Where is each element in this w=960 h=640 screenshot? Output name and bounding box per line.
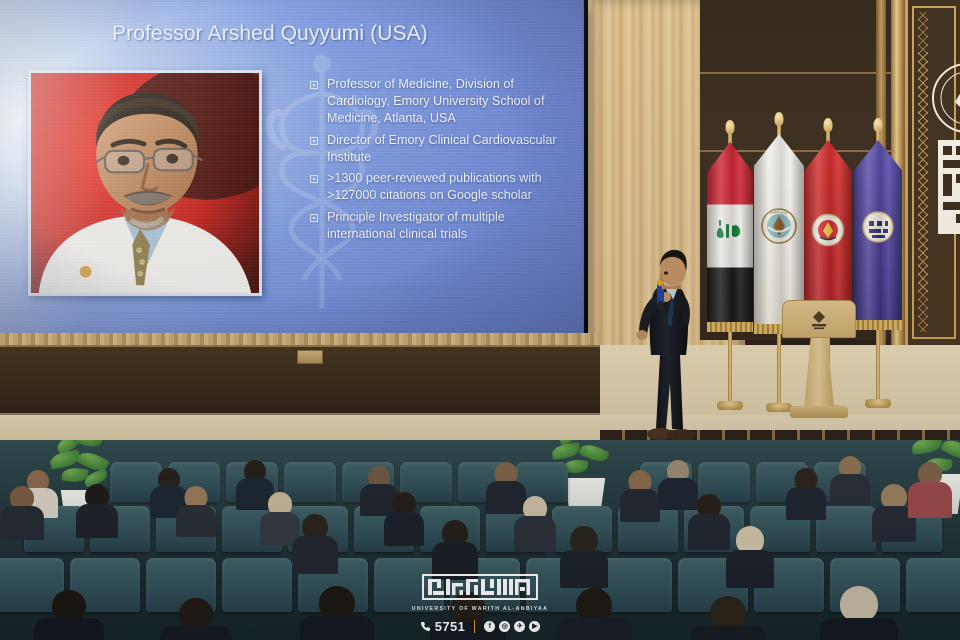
flag-cloth — [854, 140, 902, 330]
audience-member — [292, 514, 338, 570]
bullet-square-icon — [310, 214, 318, 222]
list-item: >1300 peer-reviewed publications with >1… — [310, 170, 572, 204]
cloth-shading — [707, 142, 753, 332]
bullet-text: Principle Investigator of multiple inter… — [327, 209, 572, 243]
under-screen-wood-trim — [0, 333, 600, 347]
list-item: Director of Emory Clinical Cardiovascula… — [310, 132, 572, 166]
audience-member — [432, 520, 478, 576]
presenter — [636, 243, 706, 451]
audience-member — [430, 592, 506, 640]
audience-member — [0, 486, 44, 536]
flag-finial-icon — [775, 112, 784, 126]
bullet-square-icon — [310, 81, 318, 89]
bullet-text: >1300 peer-reviewed publications with >1… — [327, 170, 572, 204]
bullet-text: Director of Emory Clinical Cardiovascula… — [327, 132, 572, 166]
flag-fringe — [707, 322, 753, 332]
flag-finial-icon — [824, 118, 833, 132]
flag-fringe — [854, 320, 902, 330]
speaker-portrait-photo — [28, 70, 262, 296]
audience-member — [786, 468, 826, 516]
flag-stand-base — [865, 399, 891, 408]
decorative-wall-panel — [905, 0, 960, 345]
presentation-slide: Professor Arshed Quyyumi (USA) — [0, 0, 584, 333]
list-item: Principle Investigator of multiple inter… — [310, 209, 572, 243]
lectern-emblem-icon — [807, 309, 831, 333]
audience-member — [908, 462, 952, 514]
flag-stand-base — [717, 401, 743, 410]
list-item: Professor of Medicine, Division of Cardi… — [310, 76, 572, 127]
seat — [906, 558, 960, 612]
lectern-base — [790, 406, 848, 418]
cloth-shading — [854, 140, 902, 330]
slide-bullet-list: Professor of Medicine, Division of Cardi… — [310, 76, 572, 248]
seat — [222, 558, 292, 612]
projection-screen: Professor Arshed Quyyumi (USA) — [0, 0, 588, 336]
audience-member — [830, 456, 870, 502]
zigzag-ornament-icon — [918, 12, 928, 332]
audience-member — [726, 526, 774, 584]
audience-member — [384, 492, 424, 542]
flag-cloth — [707, 142, 753, 332]
bullet-square-icon — [310, 137, 318, 145]
bullet-text: Professor of Medicine, Division of Cardi… — [327, 76, 572, 127]
audience-area — [0, 440, 960, 640]
audience-member — [560, 526, 608, 584]
audience-member — [76, 484, 118, 534]
slide-title: Professor Arshed Quyyumi (USA) — [112, 22, 428, 46]
flag-finial-icon — [726, 120, 735, 134]
audience-member — [176, 486, 216, 534]
audience-member — [688, 494, 730, 546]
audience-member — [34, 590, 104, 640]
flag-finial-icon — [874, 118, 883, 132]
lectern-stem — [804, 338, 834, 408]
bullet-square-icon — [310, 175, 318, 183]
audience-member — [690, 596, 766, 640]
audience-member — [300, 586, 374, 640]
purple-university-flag — [848, 128, 908, 400]
lectern — [782, 300, 856, 422]
audience-member — [556, 588, 632, 640]
audience-member — [820, 586, 898, 640]
wall-plaque — [297, 350, 323, 364]
audience-member — [160, 598, 232, 640]
audience-member — [514, 496, 556, 548]
audience-member — [620, 470, 660, 518]
university-emblem-icon — [932, 60, 960, 240]
lectern-top — [782, 300, 856, 338]
conference-hall-scene: Professor Arshed Quyyumi (USA) — [0, 0, 960, 640]
